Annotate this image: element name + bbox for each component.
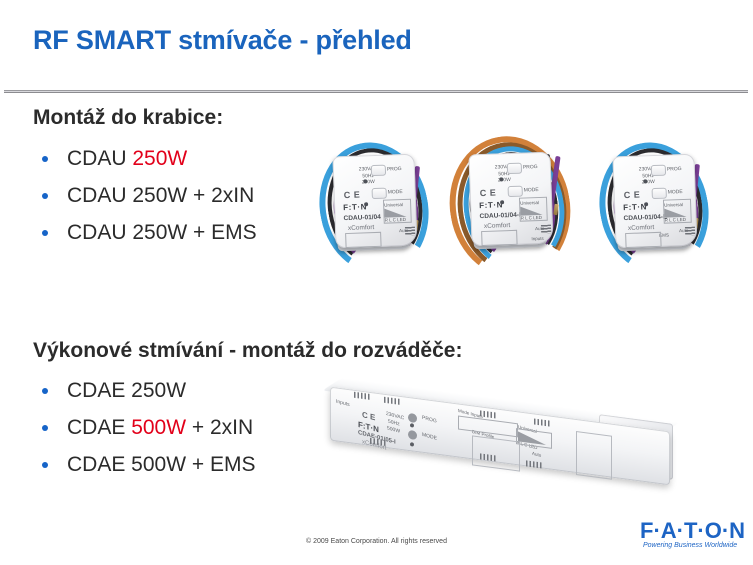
dimming-symbol-box	[663, 199, 692, 224]
list-item-text-pre: CDAE 500W + EMS	[67, 453, 255, 476]
bullet-dot-icon	[42, 193, 48, 199]
list-item-text-post: + 2xIN	[186, 416, 253, 439]
status-led-icon	[643, 179, 647, 183]
product-image-cdau-01-04-e: 230VAC 50Hz 250W C E F:T·N CDAU-01/04-E …	[596, 136, 714, 274]
list-item-text-pre: CDAU	[67, 147, 132, 170]
list-item-text-pre: CDAU 250W + 2xIN	[67, 184, 254, 207]
print-mode-label: MODE	[668, 189, 683, 196]
list-item-text-pre: CDAE 250W	[67, 379, 186, 402]
bullet-list-2: CDAE 250W CDAE 500W + 2xIN CDAE 500W + E…	[33, 372, 255, 483]
title-divider	[4, 90, 748, 93]
load-symbol-box	[345, 232, 382, 248]
eaton-logo-wordmark: F·A·T·O·N	[640, 518, 745, 544]
bullet-dot-icon	[42, 230, 48, 236]
print-range-name: xComfort	[348, 224, 375, 232]
prog-button[interactable]	[371, 165, 386, 177]
ce-mark-icon: C E	[624, 190, 641, 201]
list-item: CDAE 500W + EMS	[33, 446, 255, 483]
print-range-name: xComfort	[484, 222, 511, 230]
print-range-name: xComfort	[628, 224, 655, 232]
device-housing-face: 230VAC 50Hz 250W C E F:T·N CDAU-01/04 xC…	[332, 154, 417, 249]
vent-slots-icon	[384, 397, 400, 405]
section-heading-1: Montáž do krabice:	[33, 106, 223, 130]
dimming-symbol-box	[519, 197, 548, 222]
bullet-dot-icon	[42, 156, 48, 162]
bullet-dot-icon	[42, 425, 48, 431]
wiring-diagram	[576, 431, 612, 480]
bullet-dot-icon	[42, 462, 48, 468]
eaton-logo: F·A·T·O·N Powering Business Worldwide	[640, 518, 744, 554]
status-led-icon	[410, 423, 414, 428]
list-item-text-highlight: 250W	[132, 147, 187, 170]
print-prog-label: PROG	[667, 166, 682, 173]
list-item-text-pre: CDAU 250W + EMS	[67, 221, 257, 244]
print-model-number: CDAU-01/04	[343, 214, 380, 222]
print-prog-label: PROG	[422, 415, 437, 425]
status-led-icon	[363, 179, 367, 183]
vent-slots-icon	[526, 460, 542, 468]
vent-slots-icon	[541, 225, 551, 234]
product-image-cdau-01-04-i: 230VAC 50Hz 250W C E F:T·N CDAU-01/04-I …	[452, 134, 570, 272]
list-item: CDAU 250W + 2xIN	[33, 177, 257, 214]
product-image-cdae-01-05-i: Inputs 230VAC 50Hz 500W C E F:T·N CDAE-0…	[322, 395, 690, 495]
section-heading-2: Výkonové stmívání - montáž do rozváděče:	[33, 339, 462, 363]
vent-slots-icon	[685, 227, 695, 236]
device-housing-face: 230VAC 50Hz 250W C E F:T·N CDAU-01/04-I …	[468, 152, 553, 247]
status-led-icon	[499, 177, 503, 181]
mode-button[interactable]	[652, 188, 667, 200]
list-item: CDAU 250W	[33, 140, 257, 177]
ce-mark-icon: C E	[344, 190, 361, 201]
list-item-text-pre: CDAE	[67, 416, 131, 439]
prog-button[interactable]	[507, 163, 522, 175]
vent-slots-icon	[354, 392, 370, 400]
print-mode-label: MODE	[388, 189, 403, 196]
status-led-icon	[364, 202, 368, 206]
mode-button[interactable]	[408, 430, 417, 440]
prog-button[interactable]	[651, 165, 666, 177]
print-prog-label: PROG	[387, 166, 402, 173]
mode-button[interactable]	[372, 188, 387, 200]
ce-mark-icon: C E	[480, 188, 497, 199]
list-item-text-highlight: 500W	[131, 416, 186, 439]
status-led-icon	[410, 442, 414, 447]
eaton-logo-tagline: Powering Business Worldwide	[643, 542, 737, 549]
print-model-number: CDAU-01/04-I	[479, 212, 520, 220]
mode-button[interactable]	[508, 186, 523, 198]
print-model-number: CDAU-01/04-E	[623, 214, 667, 223]
bullet-list-1: CDAU 250W CDAU 250W + 2xIN CDAU 250W + E…	[33, 140, 257, 251]
page-title: RF SMART stmívače - přehled	[33, 25, 412, 56]
list-item: CDAE 250W	[33, 372, 255, 409]
list-item: CDAU 250W + EMS	[33, 214, 257, 251]
prog-button[interactable]	[408, 413, 417, 423]
print-inputs-label: Inputs	[336, 399, 350, 409]
load-symbol-box	[481, 230, 518, 246]
product-image-cdau-01-04: 230VAC 50Hz 250W C E F:T·N CDAU-01/04 xC…	[316, 136, 434, 274]
print-mode-label: MODE	[524, 187, 539, 194]
load-symbol-box	[625, 232, 662, 248]
list-item: CDAE 500W + 2xIN	[33, 409, 255, 446]
print-auto-label: Auto	[532, 451, 541, 458]
vent-slots-icon	[405, 227, 415, 236]
status-led-icon	[644, 202, 648, 206]
status-led-icon	[500, 200, 504, 204]
vent-slots-icon	[534, 418, 550, 426]
print-mode-label: MODE	[422, 432, 437, 442]
dimming-symbol-box	[383, 199, 412, 224]
print-inputs-label: Inputs	[531, 236, 543, 241]
device-housing-face: 230VAC 50Hz 250W C E F:T·N CDAU-01/04-E …	[612, 154, 697, 249]
print-prog-label: PROG	[523, 164, 538, 171]
bullet-dot-icon	[42, 388, 48, 394]
slide-canvas: RF SMART stmívače - přehled Montáž do kr…	[0, 0, 753, 565]
